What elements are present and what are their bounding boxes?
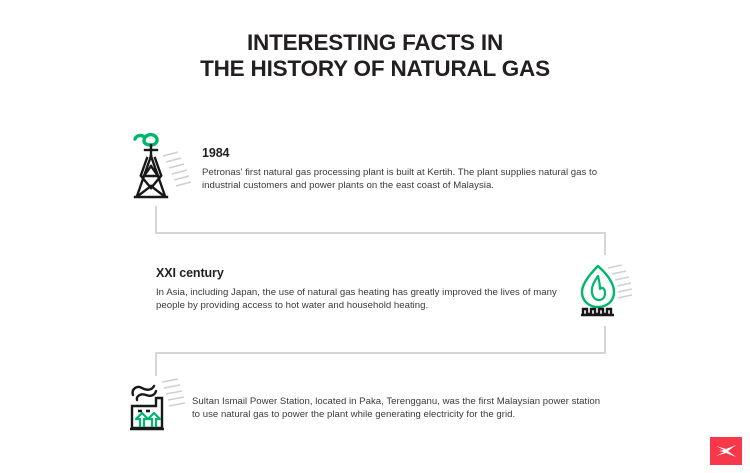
gas-power-plant-icon — [128, 378, 186, 440]
entry-1984-heading: 1984 — [202, 146, 602, 160]
connector-line-2 — [155, 326, 610, 376]
entry-xxi-century-body: In Asia, including Japan, the use of nat… — [156, 287, 568, 312]
oil-derrick-icon — [132, 128, 190, 190]
entry-xxi-century-text: XXI century In Asia, including Japan, th… — [156, 266, 568, 312]
infographic-page: INTERESTING FACTS IN THE HISTORY OF NATU… — [0, 0, 750, 473]
page-title-line-1: INTERESTING FACTS IN — [0, 30, 750, 56]
entry-sultan-ismail-text: Sultan Ismail Power Station, located in … — [192, 396, 604, 421]
brand-logo-mark — [710, 437, 742, 465]
entry-1984-body: Petronas' first natural gas processing p… — [202, 167, 602, 192]
gas-burner-flame-icon — [578, 262, 636, 324]
entry-1984-text: 1984 Petronas' first natural gas process… — [202, 146, 602, 192]
entry-sultan-ismail-body: Sultan Ismail Power Station, located in … — [192, 396, 604, 421]
entry-xxi-century-heading: XXI century — [156, 266, 568, 280]
page-title-line-2: THE HISTORY OF NATURAL GAS — [0, 56, 750, 82]
connector-line-1 — [155, 205, 610, 255]
page-title: INTERESTING FACTS IN THE HISTORY OF NATU… — [0, 30, 750, 82]
